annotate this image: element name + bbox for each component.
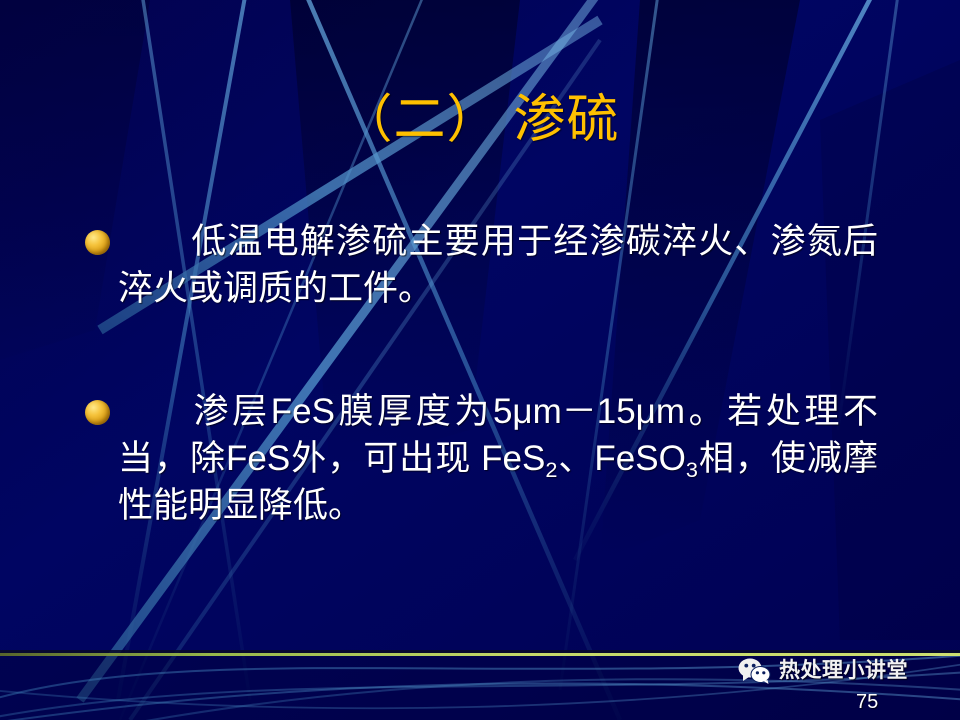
p2-formula-fes-a: FeS	[271, 392, 335, 431]
p2-seg-1: 渗层	[190, 392, 271, 431]
p2-seg-3: 膜厚度为	[335, 392, 493, 431]
slide-canvas: （二） 渗硫 低温电解渗硫主要用于经渗碳淬火、渗氮后淬火或调质的工件。 渗层Fe…	[0, 0, 960, 720]
page-number: 75	[856, 690, 878, 714]
p2-formula-feso3: FeSO	[594, 439, 685, 478]
p2-formula-fes2: FeS	[481, 439, 545, 478]
footer-divider	[0, 653, 960, 656]
bullet-marker-1	[85, 230, 110, 255]
wechat-icon	[738, 658, 772, 684]
brand-name-label: 热处理小讲堂	[779, 658, 908, 684]
body-paragraph-2: 渗层FeS膜厚度为5μm－15μm。若处理不当，除FeS外，可出现 FeS2、F…	[118, 388, 878, 529]
slide-title: （二） 渗硫	[0, 90, 960, 152]
bullet-marker-2	[85, 400, 110, 425]
p2-seg-10: 、	[557, 439, 594, 478]
p2-formula-fes-b: FeS	[226, 439, 290, 478]
p2-formula-feso3-subscript: 3	[686, 457, 698, 482]
p2-thickness-range: 5μm－15μm	[493, 392, 685, 431]
paragraph-1-text: 低温电解渗硫主要用于经渗碳淬火、渗氮后淬火或调质的工件。	[118, 222, 878, 308]
brand-watermark: 热处理小讲堂	[738, 658, 908, 684]
p2-formula-fes2-subscript: 2	[545, 457, 557, 482]
body-paragraph-1: 低温电解渗硫主要用于经渗碳淬火、渗氮后淬火或调质的工件。	[118, 218, 878, 312]
p2-seg-7: 外，可出现	[290, 439, 481, 478]
